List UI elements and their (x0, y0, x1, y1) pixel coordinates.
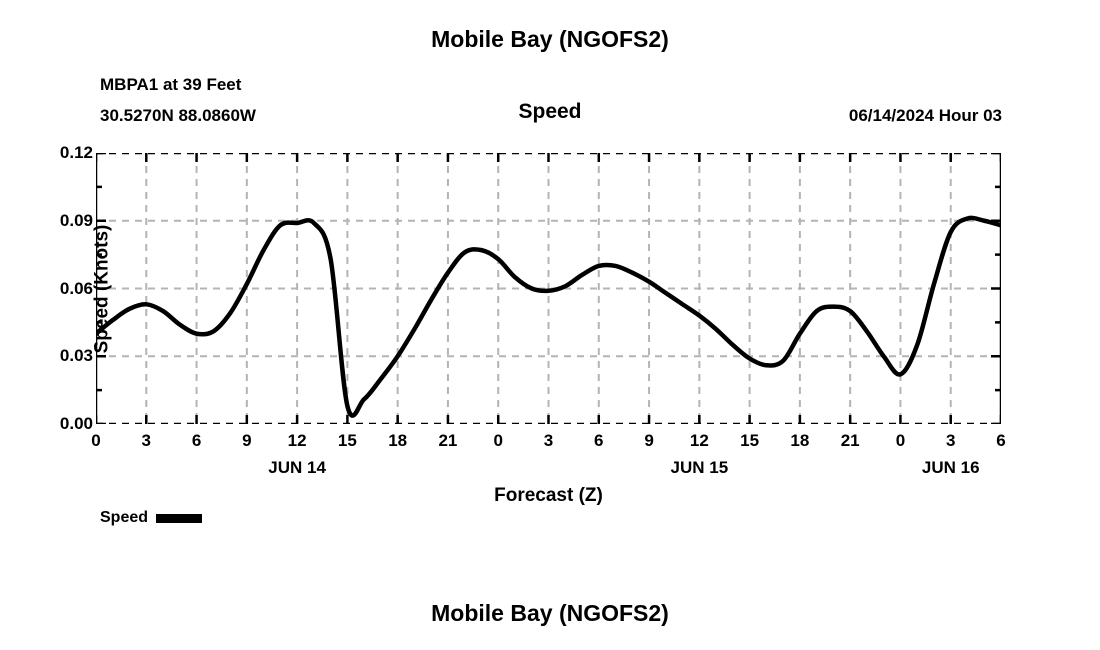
chart-page: Mobile Bay (NGOFS2) MBPA1 at 39 Feet 30.… (0, 0, 1100, 650)
x-tick-label: 3 (946, 431, 955, 451)
legend-label-speed: Speed (100, 509, 148, 527)
x-tick-label: 12 (690, 431, 709, 451)
x-tick-label: 0 (896, 431, 905, 451)
y-tick-label: 0.09 (60, 211, 93, 231)
x-tick-label: 12 (288, 431, 307, 451)
y-tick-label: 0.12 (60, 143, 93, 163)
x-tick-label: 9 (644, 431, 653, 451)
y-axis-title: Speed (Knots) (91, 224, 113, 353)
x-day-label: JUN 15 (671, 458, 729, 478)
x-day-label: JUN 16 (922, 458, 980, 478)
y-tick-label: 0.00 (60, 414, 93, 434)
x-tick-label: 0 (493, 431, 502, 451)
x-tick-label: 6 (996, 431, 1005, 451)
x-day-label: JUN 14 (268, 458, 326, 478)
page-title-top: Mobile Bay (NGOFS2) (0, 26, 1100, 53)
chart-legend: Speed (100, 509, 202, 527)
plot-area: Speed (Knots) 0.000.030.060.090.12 03691… (96, 153, 1001, 424)
x-tick-label: 21 (841, 431, 860, 451)
x-tick-label: 18 (790, 431, 809, 451)
x-tick-label: 18 (388, 431, 407, 451)
x-tick-label: 3 (142, 431, 151, 451)
x-tick-label: 15 (338, 431, 357, 451)
y-tick-label: 0.06 (60, 279, 93, 299)
page-title-bottom: Mobile Bay (NGOFS2) (0, 600, 1100, 627)
speed-line-chart (96, 153, 1001, 424)
station-name-label: MBPA1 at 39 Feet (100, 75, 241, 95)
x-tick-label: 6 (594, 431, 603, 451)
x-tick-label: 3 (544, 431, 553, 451)
x-tick-label: 15 (740, 431, 759, 451)
x-axis-title: Forecast (Z) (96, 485, 1001, 507)
legend-swatch-speed (156, 514, 202, 523)
x-tick-label: 0 (91, 431, 100, 451)
x-tick-label: 6 (192, 431, 201, 451)
model-run-stamp: 06/14/2024 Hour 03 (849, 106, 1002, 126)
x-tick-label: 9 (242, 431, 251, 451)
y-tick-label: 0.03 (60, 346, 93, 366)
x-tick-label: 21 (438, 431, 457, 451)
